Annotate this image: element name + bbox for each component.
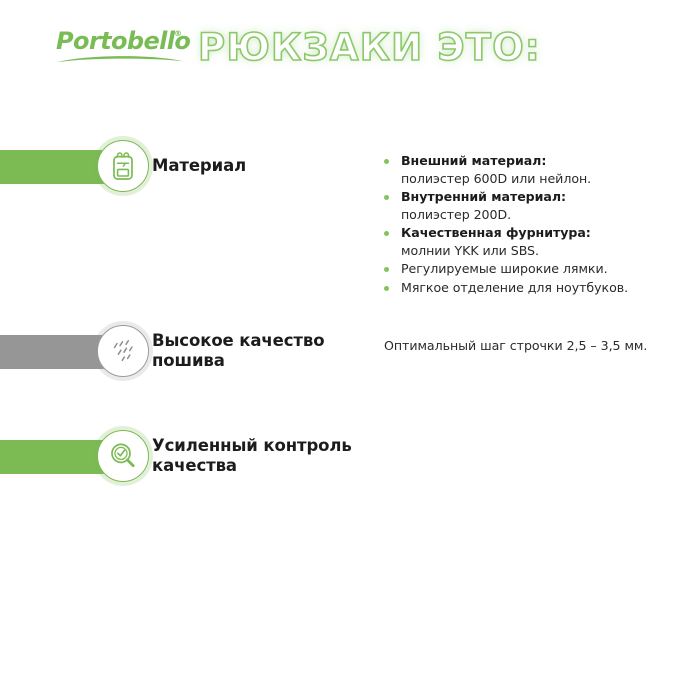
feature-label-material: Материал (152, 156, 246, 176)
swoosh-underline-icon (54, 52, 186, 64)
list-item-head: Качественная фурнитура: (401, 224, 684, 242)
bullet-dot-icon (384, 159, 389, 164)
list-item: Внешний материал: полиэстер 600D или ней… (384, 152, 684, 187)
registered-trademark-icon: ® (174, 29, 182, 38)
list-item: Мягкое отделение для ноутбуков. (384, 279, 684, 297)
feature-row-material: Материал (0, 119, 360, 215)
feature-label-stitch-quality: Высокое качество пошива (152, 331, 324, 371)
list-item: Регулируемые широкие лямки. (384, 260, 684, 278)
stitch-quality-note: Оптимальный шаг строчки 2,5 – 3,5 мм. (384, 337, 684, 355)
brand-logo-text: Portobello (56, 28, 190, 54)
bullet-dot-icon (384, 267, 389, 272)
material-bullet-list: Внешний материал: полиэстер 600D или ней… (384, 152, 684, 297)
feature-bar-quality-control (0, 440, 108, 474)
list-item-head: Внешний материал: (401, 152, 684, 170)
magnifier-check-icon (108, 441, 138, 471)
feature-label-quality-control: Усиленный контроль качества (152, 436, 352, 476)
list-item-sub: полиэстер 200D. (401, 206, 684, 224)
header: Portobello ® РЮКЗАКИ ЭТО: (0, 0, 700, 100)
feature-row-stitch-quality: Высокое качество пошива (0, 304, 360, 400)
list-item-head: Внутренний материал: (401, 188, 684, 206)
list-item-sub: Мягкое отделение для ноутбуков. (401, 279, 684, 297)
page-title: РЮКЗАКИ ЭТО: (198, 23, 558, 75)
backpack-icon (110, 151, 136, 181)
list-item-sub: молнии YKK или SBS. (401, 242, 684, 260)
feature-icon-circle-quality-control (97, 430, 149, 482)
feature-row-quality-control: Усиленный контроль качества (0, 409, 360, 505)
feature-icon-circle-material (97, 140, 149, 192)
stitching-icon (108, 336, 138, 366)
bullet-dot-icon (384, 231, 389, 236)
bullet-dot-icon (384, 195, 389, 200)
page-title-text: РЮКЗАКИ ЭТО: (198, 26, 541, 69)
brand-logo: Portobello ® (56, 28, 186, 64)
list-item: Внутренний материал: полиэстер 200D. (384, 188, 684, 223)
feature-bar-material (0, 150, 108, 184)
note-text: Оптимальный шаг строчки 2,5 – 3,5 мм. (384, 337, 684, 355)
feature-bar-stitch-quality (0, 335, 108, 369)
list-item-sub: полиэстер 600D или нейлон. (401, 170, 684, 188)
bullet-dot-icon (384, 286, 389, 291)
feature-icon-circle-stitch-quality (97, 325, 149, 377)
list-item-sub: Регулируемые широкие лямки. (401, 260, 684, 278)
list-item: Качественная фурнитура: молнии YKK или S… (384, 224, 684, 259)
